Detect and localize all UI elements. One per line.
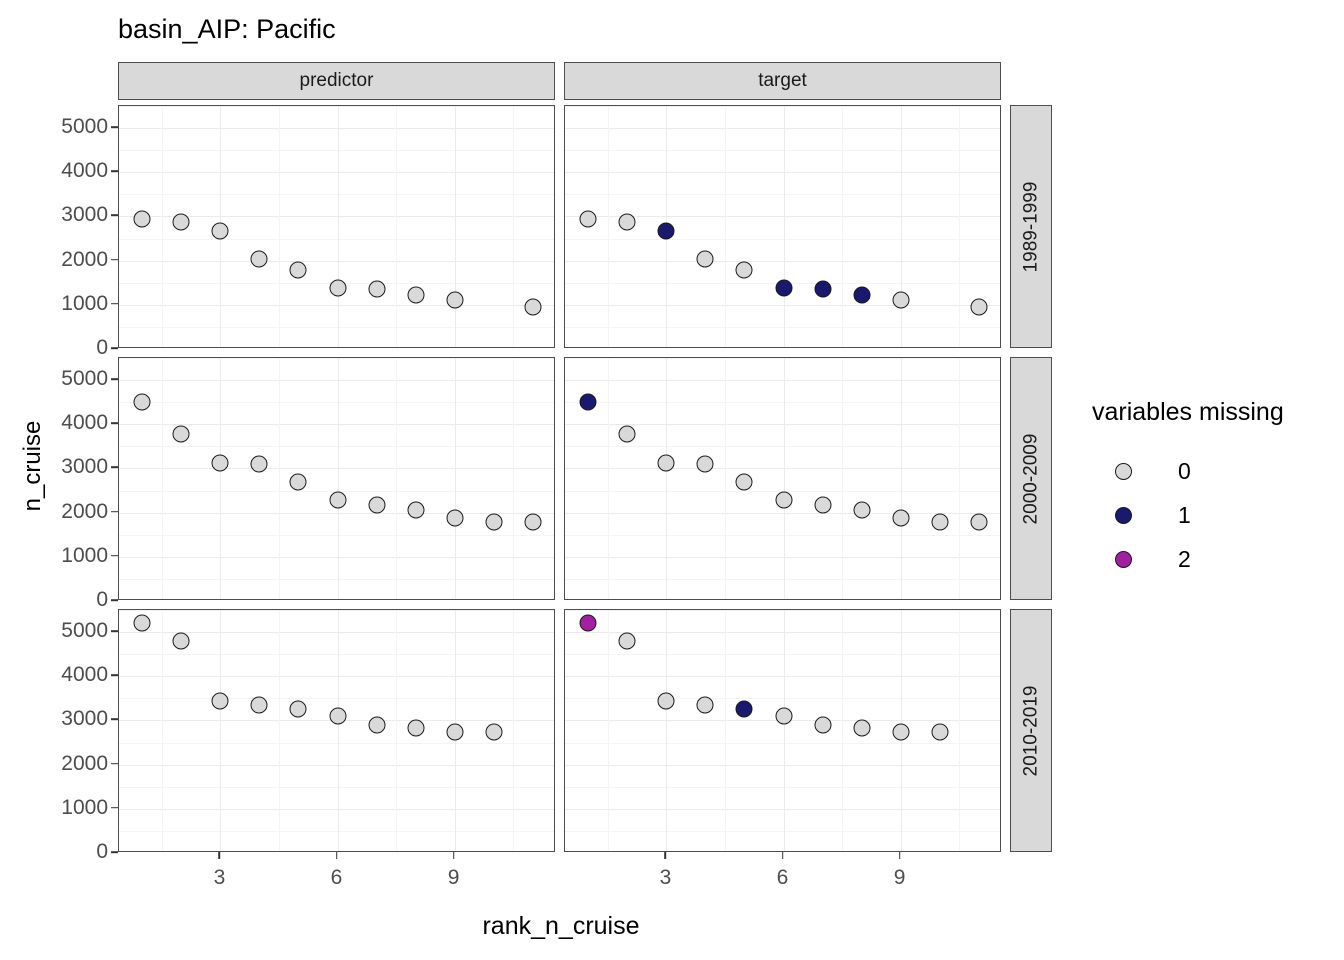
gridline-h <box>119 468 554 469</box>
y-tick-label: 3000 <box>61 203 108 227</box>
gridline-v <box>338 106 339 347</box>
gridline-v <box>901 358 902 599</box>
data-point <box>290 261 307 278</box>
gridline-h <box>565 172 1000 173</box>
gridline-h <box>565 468 1000 469</box>
panel-predictor-2010-2019 <box>118 609 555 852</box>
y-tick-label: 2000 <box>61 500 108 524</box>
gridline-h <box>565 239 1000 240</box>
y-tick-label: 4000 <box>61 159 108 183</box>
gridline-h <box>565 698 1000 699</box>
data-point <box>697 251 714 268</box>
y-tick-label: 5000 <box>61 367 108 391</box>
gridline-v <box>784 610 785 851</box>
gridline-v-minor <box>396 610 397 851</box>
x-tick-mark <box>453 852 455 859</box>
gridline-v-minor <box>608 358 609 599</box>
data-point <box>814 716 831 733</box>
data-point <box>407 287 424 304</box>
data-point <box>931 724 948 741</box>
gridline-h <box>565 809 1000 810</box>
x-tick-mark <box>336 852 338 859</box>
data-point <box>134 211 151 228</box>
y-tick-mark <box>111 807 118 809</box>
data-point <box>329 707 346 724</box>
data-point <box>658 693 675 710</box>
gridline-h <box>565 380 1000 381</box>
x-tick-label: 9 <box>894 866 906 890</box>
gridline-h <box>565 106 1000 107</box>
panel-predictor-1989-1999 <box>118 105 555 348</box>
data-point <box>251 455 268 472</box>
legend-label: 1 <box>1178 502 1191 529</box>
data-point <box>892 723 909 740</box>
y-tick-mark <box>111 719 118 721</box>
y-tick-mark <box>111 126 118 128</box>
gridline-h <box>565 194 1000 195</box>
gridline-h <box>119 676 554 677</box>
data-point <box>775 280 792 297</box>
gridline-v <box>666 610 667 851</box>
legend-key <box>1106 454 1140 488</box>
gridline-v <box>901 106 902 347</box>
gridline-h <box>565 150 1000 151</box>
gridline-h <box>565 128 1000 129</box>
y-tick-label: 1000 <box>61 544 108 568</box>
gridline-v <box>455 106 456 347</box>
legend-item-0[interactable]: 0 <box>1092 449 1284 493</box>
data-point <box>580 394 597 411</box>
data-point <box>775 492 792 509</box>
gridline-h <box>565 557 1000 558</box>
data-point <box>212 455 229 472</box>
data-point <box>853 287 870 304</box>
gridline-v <box>455 358 456 599</box>
gridline-h <box>119 305 554 306</box>
y-tick-mark <box>111 378 118 380</box>
data-point <box>173 633 190 650</box>
gridline-h <box>565 261 1000 262</box>
strip-row-2000-2009: 2000-2009 <box>1010 357 1052 600</box>
data-point <box>407 501 424 518</box>
x-tick-label: 3 <box>214 866 226 890</box>
strip-row-label: 1989-1999 <box>1020 181 1042 272</box>
gridline-h <box>119 654 554 655</box>
y-tick-mark <box>111 763 118 765</box>
panel-target-1989-1999 <box>564 105 1001 348</box>
legend-item-2[interactable]: 2 <box>1092 537 1284 581</box>
data-point <box>524 514 541 531</box>
legend-title: variables missing <box>1092 398 1284 427</box>
gridline-h <box>119 765 554 766</box>
y-tick-label: 2000 <box>61 248 108 272</box>
data-point <box>775 707 792 724</box>
gridline-v-minor <box>959 358 960 599</box>
gridline-v-minor <box>725 106 726 347</box>
gridline-h <box>565 787 1000 788</box>
y-tick-label: 1000 <box>61 796 108 820</box>
data-point <box>970 298 987 315</box>
data-point <box>524 298 541 315</box>
gridline-v-minor <box>842 106 843 347</box>
x-axis-title: rank_n_cruise <box>118 912 1004 941</box>
gridline-h <box>119 831 554 832</box>
data-point <box>736 473 753 490</box>
data-point <box>892 291 909 308</box>
facet-row-2000-2009: 2000-2009 <box>118 357 1052 600</box>
gridline-h <box>565 765 1000 766</box>
data-point <box>446 291 463 308</box>
gridline-v-minor <box>513 610 514 851</box>
gridline-h <box>119 402 554 403</box>
data-point <box>290 473 307 490</box>
gridline-v-minor <box>608 106 609 347</box>
y-tick-mark <box>111 303 118 305</box>
data-point <box>658 222 675 239</box>
data-point <box>251 251 268 268</box>
gridline-v-minor <box>608 610 609 851</box>
gridline-h <box>119 535 554 536</box>
x-tick-mark <box>782 852 784 859</box>
data-point <box>134 394 151 411</box>
legend-key <box>1106 498 1140 532</box>
data-point <box>407 719 424 736</box>
x-tick-mark <box>665 852 667 859</box>
y-tick-mark <box>111 555 118 557</box>
gridline-h <box>565 327 1000 328</box>
gridline-v <box>784 106 785 347</box>
data-point <box>697 696 714 713</box>
y-tick-mark <box>111 170 118 172</box>
gridline-h <box>119 261 554 262</box>
legend-label: 2 <box>1178 546 1191 573</box>
y-axis-title: n_cruise <box>19 401 47 531</box>
gridline-v-minor <box>396 106 397 347</box>
gridline-h <box>565 305 1000 306</box>
gridline-v-minor <box>725 610 726 851</box>
gridline-v <box>784 358 785 599</box>
data-point <box>134 615 151 632</box>
data-point <box>892 509 909 526</box>
y-tick-label: 3000 <box>61 455 108 479</box>
data-point <box>853 719 870 736</box>
y-tick-label: 0 <box>96 336 108 360</box>
data-point <box>736 261 753 278</box>
data-point <box>290 700 307 717</box>
gridline-v <box>338 358 339 599</box>
legend-items: 012 <box>1092 449 1284 581</box>
data-point <box>329 280 346 297</box>
gridline-v-minor <box>513 358 514 599</box>
strip-corner-spacer <box>1010 62 1052 100</box>
gridline-v-minor <box>279 106 280 347</box>
data-point <box>619 425 636 442</box>
y-tick-label: 2000 <box>61 752 108 776</box>
y-tick-label: 3000 <box>61 707 108 731</box>
gridline-h <box>565 654 1000 655</box>
legend-dot-icon <box>1115 463 1132 480</box>
y-tick-mark <box>111 347 118 349</box>
y-tick-label: 1000 <box>61 292 108 316</box>
gridline-h <box>119 557 554 558</box>
data-point <box>212 222 229 239</box>
data-point <box>368 496 385 513</box>
gridline-h <box>119 743 554 744</box>
facet-row-1989-1999: 1989-1999 <box>118 105 1052 348</box>
gridline-h <box>119 239 554 240</box>
gridline-h <box>119 809 554 810</box>
gridline-v <box>220 610 221 851</box>
data-point <box>580 211 597 228</box>
gridline-h <box>119 128 554 129</box>
data-point <box>853 501 870 518</box>
data-point <box>619 633 636 650</box>
panel-predictor-2000-2009 <box>118 357 555 600</box>
gridline-h <box>119 194 554 195</box>
gridline-h <box>119 358 554 359</box>
panel-target-2010-2019 <box>564 609 1001 852</box>
strip-col-predictor: predictor <box>118 62 555 100</box>
x-axis: 369369 <box>0 852 1344 898</box>
data-point <box>329 492 346 509</box>
legend-dot-icon <box>1115 551 1132 568</box>
data-point <box>658 455 675 472</box>
gridline-v-minor <box>959 106 960 347</box>
y-tick-mark <box>111 259 118 261</box>
legend-label: 0 <box>1178 458 1191 485</box>
gridline-h <box>119 106 554 107</box>
gridline-h <box>565 402 1000 403</box>
gridline-h <box>119 327 554 328</box>
data-point <box>173 425 190 442</box>
data-point <box>580 615 597 632</box>
data-point <box>697 455 714 472</box>
data-point <box>736 700 753 717</box>
gridline-h <box>565 358 1000 359</box>
data-point <box>619 214 636 231</box>
y-tick-label: 4000 <box>61 411 108 435</box>
gridline-v-minor <box>725 358 726 599</box>
x-tick-mark <box>899 852 901 859</box>
gridline-v-minor <box>279 358 280 599</box>
strip-row-label: 2000-2009 <box>1020 433 1042 524</box>
gridline-h <box>119 150 554 151</box>
data-point <box>212 693 229 710</box>
y-tick-label: 5000 <box>61 619 108 643</box>
data-point <box>446 509 463 526</box>
gridline-v-minor <box>842 358 843 599</box>
gridline-v-minor <box>162 610 163 851</box>
y-tick-mark <box>111 630 118 632</box>
gridline-v-minor <box>162 106 163 347</box>
strip-row-2010-2019: 2010-2019 <box>1010 609 1052 852</box>
gridline-h <box>565 446 1000 447</box>
strip-row-1989-1999: 1989-1999 <box>1010 105 1052 348</box>
gridline-v <box>666 358 667 599</box>
data-point <box>485 724 502 741</box>
y-tick-mark <box>111 674 118 676</box>
y-tick-mark <box>111 422 118 424</box>
gridline-h <box>565 743 1000 744</box>
legend-dot-icon <box>1115 507 1132 524</box>
gridline-h <box>119 698 554 699</box>
data-point <box>485 513 502 530</box>
gridline-h <box>565 831 1000 832</box>
data-point <box>368 281 385 298</box>
gridline-h <box>119 787 554 788</box>
legend: variables missing 012 <box>1092 398 1284 581</box>
column-strips: predictor target <box>118 62 1052 100</box>
gridline-v-minor <box>513 106 514 347</box>
gridline-h <box>565 610 1000 611</box>
y-tick-mark <box>111 599 118 601</box>
facet-row-2010-2019: 2010-2019 <box>118 609 1052 852</box>
data-point <box>814 496 831 513</box>
data-point <box>970 514 987 531</box>
y-tick-mark <box>111 467 118 469</box>
gridline-h <box>119 610 554 611</box>
legend-item-1[interactable]: 1 <box>1092 493 1284 537</box>
gridline-v-minor <box>279 610 280 851</box>
y-tick-label: 0 <box>96 588 108 612</box>
y-tick-mark <box>111 511 118 513</box>
strip-row-label: 2010-2019 <box>1020 685 1042 776</box>
panel-target-2000-2009 <box>564 357 1001 600</box>
data-point <box>814 281 831 298</box>
x-tick-label: 6 <box>777 866 789 890</box>
gridline-h <box>119 172 554 173</box>
page-title: basin_AIP: Pacific <box>118 12 336 46</box>
y-tick-mark <box>111 215 118 217</box>
data-point <box>173 214 190 231</box>
gridline-v <box>338 610 339 851</box>
x-tick-label: 3 <box>660 866 672 890</box>
gridline-v-minor <box>959 610 960 851</box>
gridline-h <box>119 380 554 381</box>
strip-col-target: target <box>564 62 1001 100</box>
gridline-h <box>565 535 1000 536</box>
legend-key <box>1106 542 1140 576</box>
data-point <box>251 696 268 713</box>
data-point <box>446 723 463 740</box>
x-tick-label: 6 <box>331 866 343 890</box>
y-tick-label: 4000 <box>61 663 108 687</box>
gridline-v-minor <box>396 358 397 599</box>
gridline-h <box>119 579 554 580</box>
chart-root: basin_AIP: Pacific n_cruise rank_n_cruis… <box>0 0 1344 960</box>
panel-container: 1989-19992000-20092010-2019 <box>118 105 1052 852</box>
gridline-h <box>565 579 1000 580</box>
y-tick-label: 5000 <box>61 115 108 139</box>
facet-grid: predictor target 1989-19992000-20092010-… <box>118 62 1052 852</box>
gridline-v <box>220 358 221 599</box>
gridline-h <box>119 446 554 447</box>
data-point <box>368 716 385 733</box>
x-tick-label: 9 <box>448 866 460 890</box>
gridline-h <box>565 676 1000 677</box>
gridline-v-minor <box>842 610 843 851</box>
x-tick-mark <box>219 852 221 859</box>
gridline-v-minor <box>162 358 163 599</box>
data-point <box>931 513 948 530</box>
